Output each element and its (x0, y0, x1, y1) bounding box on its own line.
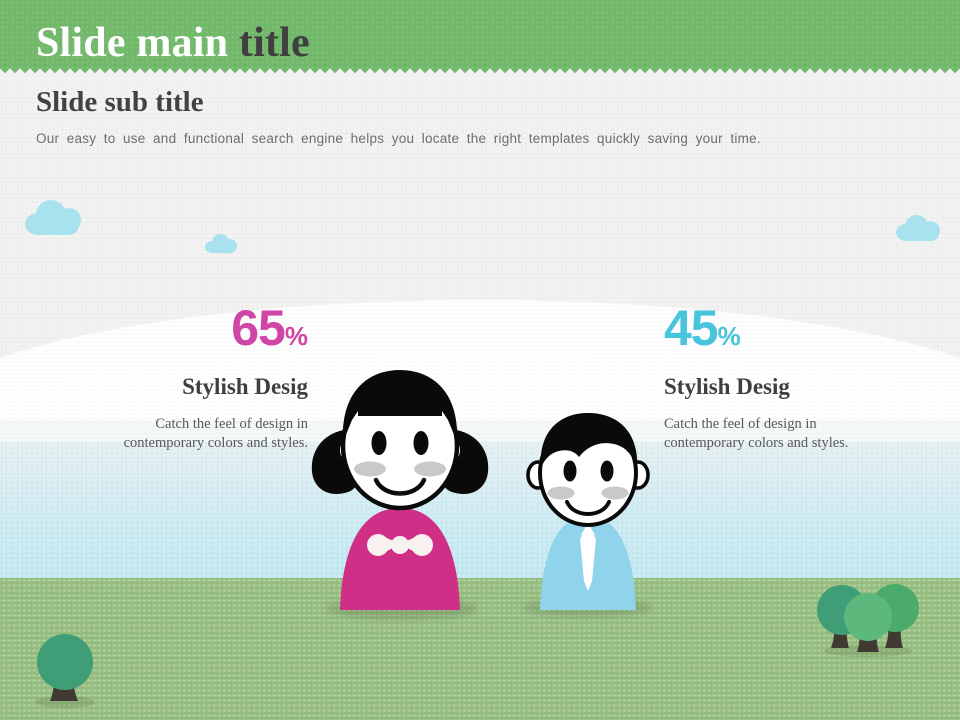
tree-group-right-icon (816, 582, 920, 656)
stat-right-value: 45 (664, 300, 718, 356)
stat-right-percentage: 45% (664, 303, 944, 353)
header-zigzag-edge (0, 67, 960, 79)
stat-right-caption-line1: Catch the feel of design in (664, 415, 944, 434)
main-title-light: Slide main (36, 20, 228, 66)
stat-right-symbol: % (718, 321, 741, 351)
cloud-large-left-icon (25, 200, 85, 235)
sub-description: Our easy to use and functional search en… (36, 131, 876, 147)
sub-title: Slide sub title (36, 88, 204, 117)
stat-left-headline: Stylish Desig (40, 375, 308, 398)
stat-left-caption-line2: contemporary colors and styles. (40, 434, 308, 453)
stat-right-headline: Stylish Desig (664, 375, 944, 398)
stat-left-caption: Catch the feel of design in contemporary… (40, 415, 308, 452)
stat-left-percentage: 65% (40, 303, 308, 353)
tree-bottom-left-icon (28, 630, 102, 708)
stat-left-symbol: % (285, 321, 308, 351)
slide-canvas: Slide main title Slide sub title Our eas… (0, 0, 960, 720)
stat-left-caption-line1: Catch the feel of design in (40, 415, 308, 434)
stat-right-caption-line2: contemporary colors and styles. (664, 434, 944, 453)
cloud-small-mid-icon (205, 234, 238, 253)
girl-character (300, 368, 500, 613)
boy-character (516, 413, 660, 613)
stat-left-value: 65 (231, 300, 285, 356)
stat-block-left: 65% Stylish Desig Catch the feel of desi… (40, 303, 308, 452)
cloud-right-icon (896, 215, 942, 241)
page-title: Slide main title (36, 22, 310, 64)
stat-block-right: 45% Stylish Desig Catch the feel of desi… (664, 303, 944, 452)
stat-right-caption: Catch the feel of design in contemporary… (664, 415, 944, 452)
main-title-dark: title (239, 20, 310, 66)
